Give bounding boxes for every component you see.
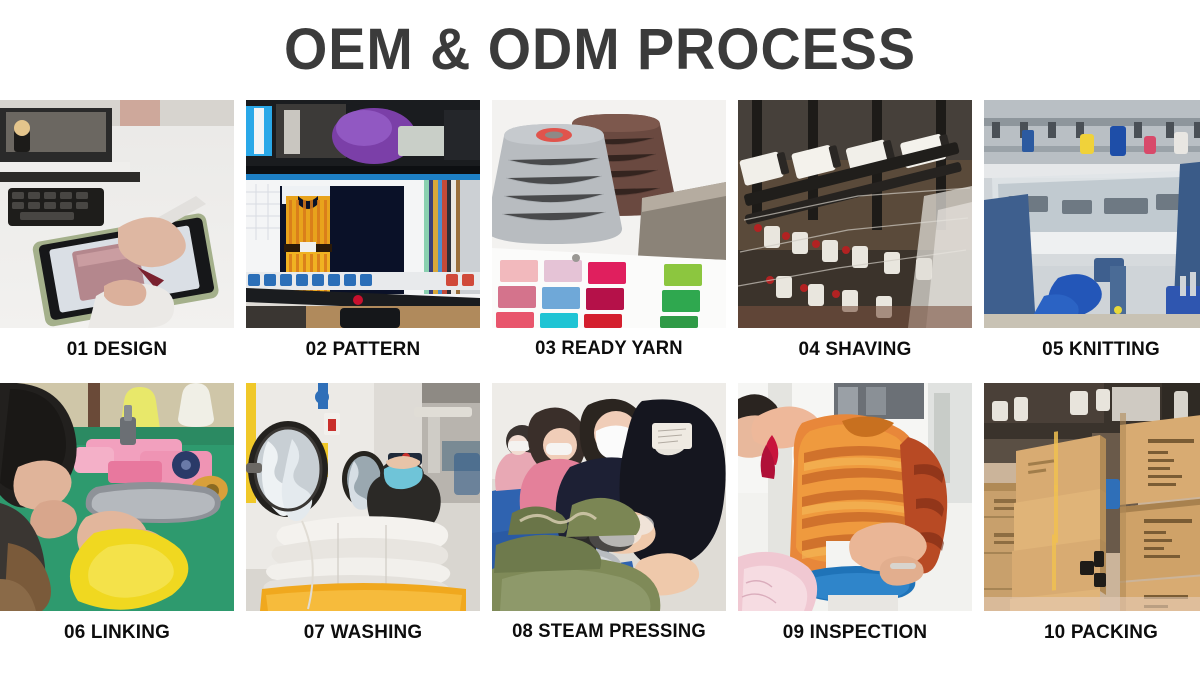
process-grid: 01 DESIGN	[0, 100, 1200, 653]
step-label-steam-pressing: 08 STEAM PRESSING	[496, 611, 723, 653]
process-step-steam-pressing[interactable]: 08 STEAM PRESSING	[492, 383, 726, 653]
step-image-steam-pressing[interactable]	[492, 383, 726, 611]
step-image-linking[interactable]	[0, 383, 234, 611]
step-label-ready-yarn: 03 READY YARN	[496, 328, 723, 370]
process-step-shaving[interactable]: 04 SHAVING	[738, 100, 972, 370]
step-image-design[interactable]	[0, 100, 234, 328]
process-step-design[interactable]: 01 DESIGN	[0, 100, 234, 370]
process-step-washing[interactable]: 07 WASHING	[246, 383, 480, 653]
step-image-pattern[interactable]	[246, 100, 480, 328]
step-label-design: 01 DESIGN	[4, 328, 231, 370]
step-image-washing[interactable]	[246, 383, 480, 611]
process-step-pattern[interactable]: 02 PATTERN	[246, 100, 480, 370]
step-label-inspection: 09 INSPECTION	[742, 611, 969, 653]
step-image-knitting[interactable]	[984, 100, 1200, 328]
step-image-shaving[interactable]	[738, 100, 972, 328]
step-label-linking: 06 LINKING	[4, 611, 231, 653]
step-label-washing: 07 WASHING	[250, 611, 477, 653]
process-row-2: 06 LINKING	[0, 383, 1200, 653]
process-step-ready-yarn[interactable]: 03 READY YARN	[492, 100, 726, 370]
page-title: OEM & ODM PROCESS	[24, 0, 1176, 100]
step-image-packing[interactable]	[984, 383, 1200, 611]
step-image-ready-yarn[interactable]	[492, 100, 726, 328]
process-step-packing[interactable]: 10 PACKING	[984, 383, 1200, 653]
step-label-pattern: 02 PATTERN	[250, 328, 477, 370]
process-step-knitting[interactable]: 05 KNITTING	[984, 100, 1200, 370]
process-step-inspection[interactable]: 09 INSPECTION	[738, 383, 972, 653]
process-row-1: 01 DESIGN	[0, 100, 1200, 370]
step-image-inspection[interactable]	[738, 383, 972, 611]
step-label-shaving: 04 SHAVING	[742, 328, 969, 370]
process-infographic: OEM & ODM PROCESS	[0, 0, 1200, 678]
process-step-linking[interactable]: 06 LINKING	[0, 383, 234, 653]
step-label-packing: 10 PACKING	[988, 611, 1200, 653]
step-label-knitting: 05 KNITTING	[988, 328, 1200, 370]
